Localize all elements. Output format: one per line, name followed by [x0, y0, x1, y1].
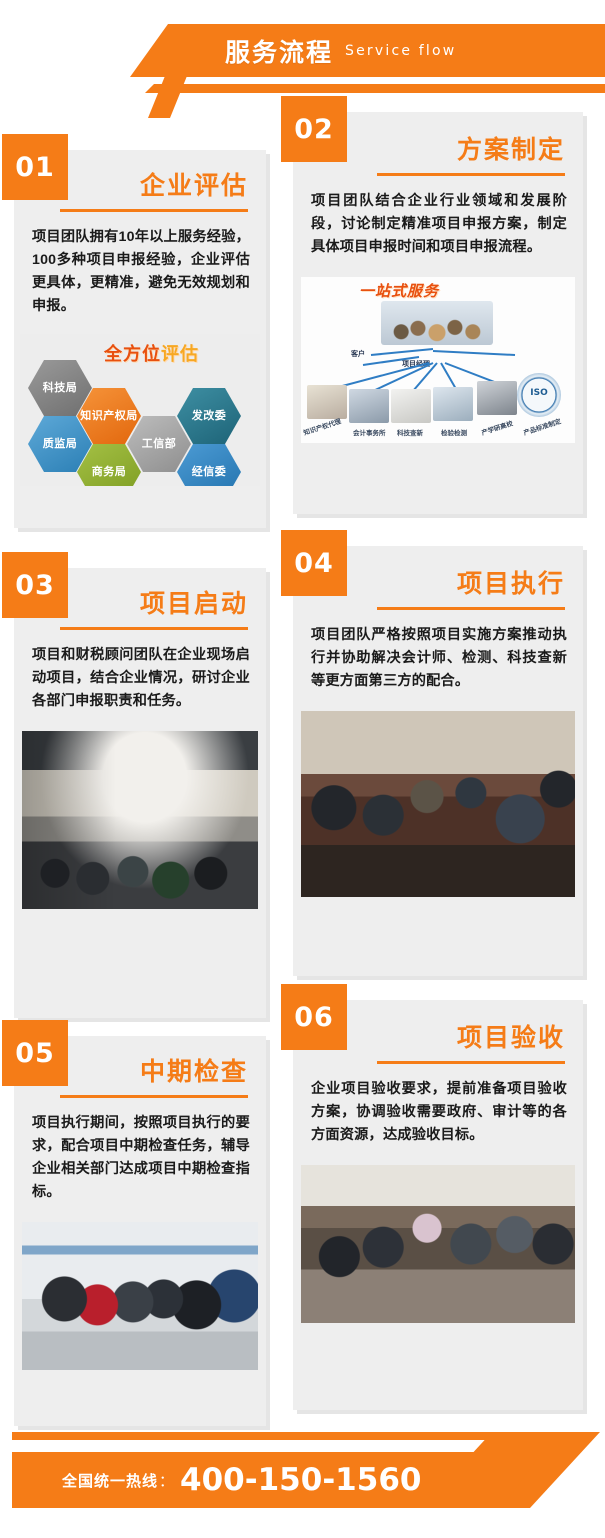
conference-room-photo [22, 731, 258, 909]
diagram-branch-label: 科技查新 [397, 427, 423, 437]
step-card-03: 03 项目启动 项目和财税顾问团队在企业现场启动项目，结合企业情况，研讨企业各部… [14, 568, 266, 1018]
step-description: 项目执行期间，按照项目执行的要求，配合项目中期检查任务，辅导企业相关部门达成项目… [14, 1098, 266, 1216]
diagram-thumb-accounting [349, 389, 389, 423]
hotline-phone-number[interactable]: 400-150-1560 [180, 1462, 421, 1498]
footer-stripe-decoration [12, 1432, 542, 1440]
hotline-label: 全国统一热线 [62, 1470, 158, 1491]
step-card-02: 02 方案制定 项目团队结合企业行业领域和发展阶段，讨论制定精准项目申报方案，制… [293, 112, 583, 514]
diagram-branch-label: 检验检测 [441, 427, 467, 437]
meeting-laptops-photo [301, 711, 575, 897]
diagram-thumb-ip-agency [307, 385, 347, 419]
step-card-06: 06 项目验收 企业项目验收要求，提前准备项目验收方案，协调验收需要政府、审计等… [293, 1000, 583, 1410]
iso-seal-icon [517, 373, 561, 417]
step-number-badge: 05 [2, 1020, 68, 1086]
exhibition-visit-photo [22, 1222, 258, 1370]
diagram-thumb-university [477, 381, 517, 415]
page-subtitle: Service flow [345, 43, 456, 59]
page-footer: 全国统一热线 ： 400-150-1560 [0, 1432, 605, 1538]
diagram-thumb-inspection [433, 387, 473, 421]
step-card-05: 05 中期检查 项目执行期间，按照项目执行的要求，配合项目中期检查任务，辅导企业… [14, 1036, 266, 1426]
step-number-badge: 03 [2, 552, 68, 618]
hexagon-chart-title: 全方位评估 [104, 340, 199, 366]
hotline-colon: ： [159, 1470, 174, 1491]
hexagon-title-part1: 全方位 [104, 344, 161, 364]
step-number-badge: 04 [281, 530, 347, 596]
hotline-bar: 全国统一热线 ： 400-150-1560 [12, 1452, 542, 1508]
hexagon-node: 工信部 [127, 416, 191, 472]
page-title: 服务流程 [225, 33, 333, 69]
step-card-01: 01 企业评估 项目团队拥有10年以上服务经验，100多种项目申报经验，企业评估… [14, 150, 266, 528]
step-description: 项目团队严格按照项目实施方案推动执行并协助解决会计师、检测、科技查新等更方面第三… [293, 610, 583, 705]
step-number-badge: 06 [281, 984, 347, 1050]
hexagon-node: 发改委 [177, 388, 241, 444]
step-description: 项目团队拥有10年以上服务经验，100多种项目申报经验，企业评估更具体，更精准，… [14, 212, 266, 330]
diagram-thumb-novelty-search [391, 389, 431, 423]
hexagon-chart: 全方位评估 科技局 质监局 知识产权局 商务局 工信部 发改委 经信委 [20, 334, 260, 486]
header-banner: 服务流程 Service flow [130, 24, 605, 77]
hexagon-title-part2: 评估 [161, 344, 199, 364]
step-number-badge: 02 [281, 96, 347, 162]
acceptance-meeting-photo [301, 1165, 575, 1323]
step-description: 项目和财税顾问团队在企业现场启动项目，结合企业情况，研讨企业各部门申报职责和任务… [14, 630, 266, 725]
one-stop-service-diagram: 一站式服务 客户 项目经理 [301, 277, 575, 443]
header-stripe-decoration [145, 84, 605, 93]
step-card-04: 04 项目执行 项目团队严格按照项目实施方案推动执行并协助解决会计师、检测、科技… [293, 546, 583, 976]
infographic-page: 服务流程 Service flow 01 企业评估 项目团队拥有10年以上服务经… [0, 0, 605, 1538]
step-description: 企业项目验收要求，提前准备项目验收方案，协调验收需要政府、审计等的各方面资源，达… [293, 1064, 583, 1159]
step-description: 项目团队结合企业行业领域和发展阶段，讨论制定精准项目申报方案，制定具体项目申报时… [293, 176, 583, 271]
step-number-badge: 01 [2, 134, 68, 200]
diagram-branch-label: 会计事务所 [353, 427, 386, 437]
